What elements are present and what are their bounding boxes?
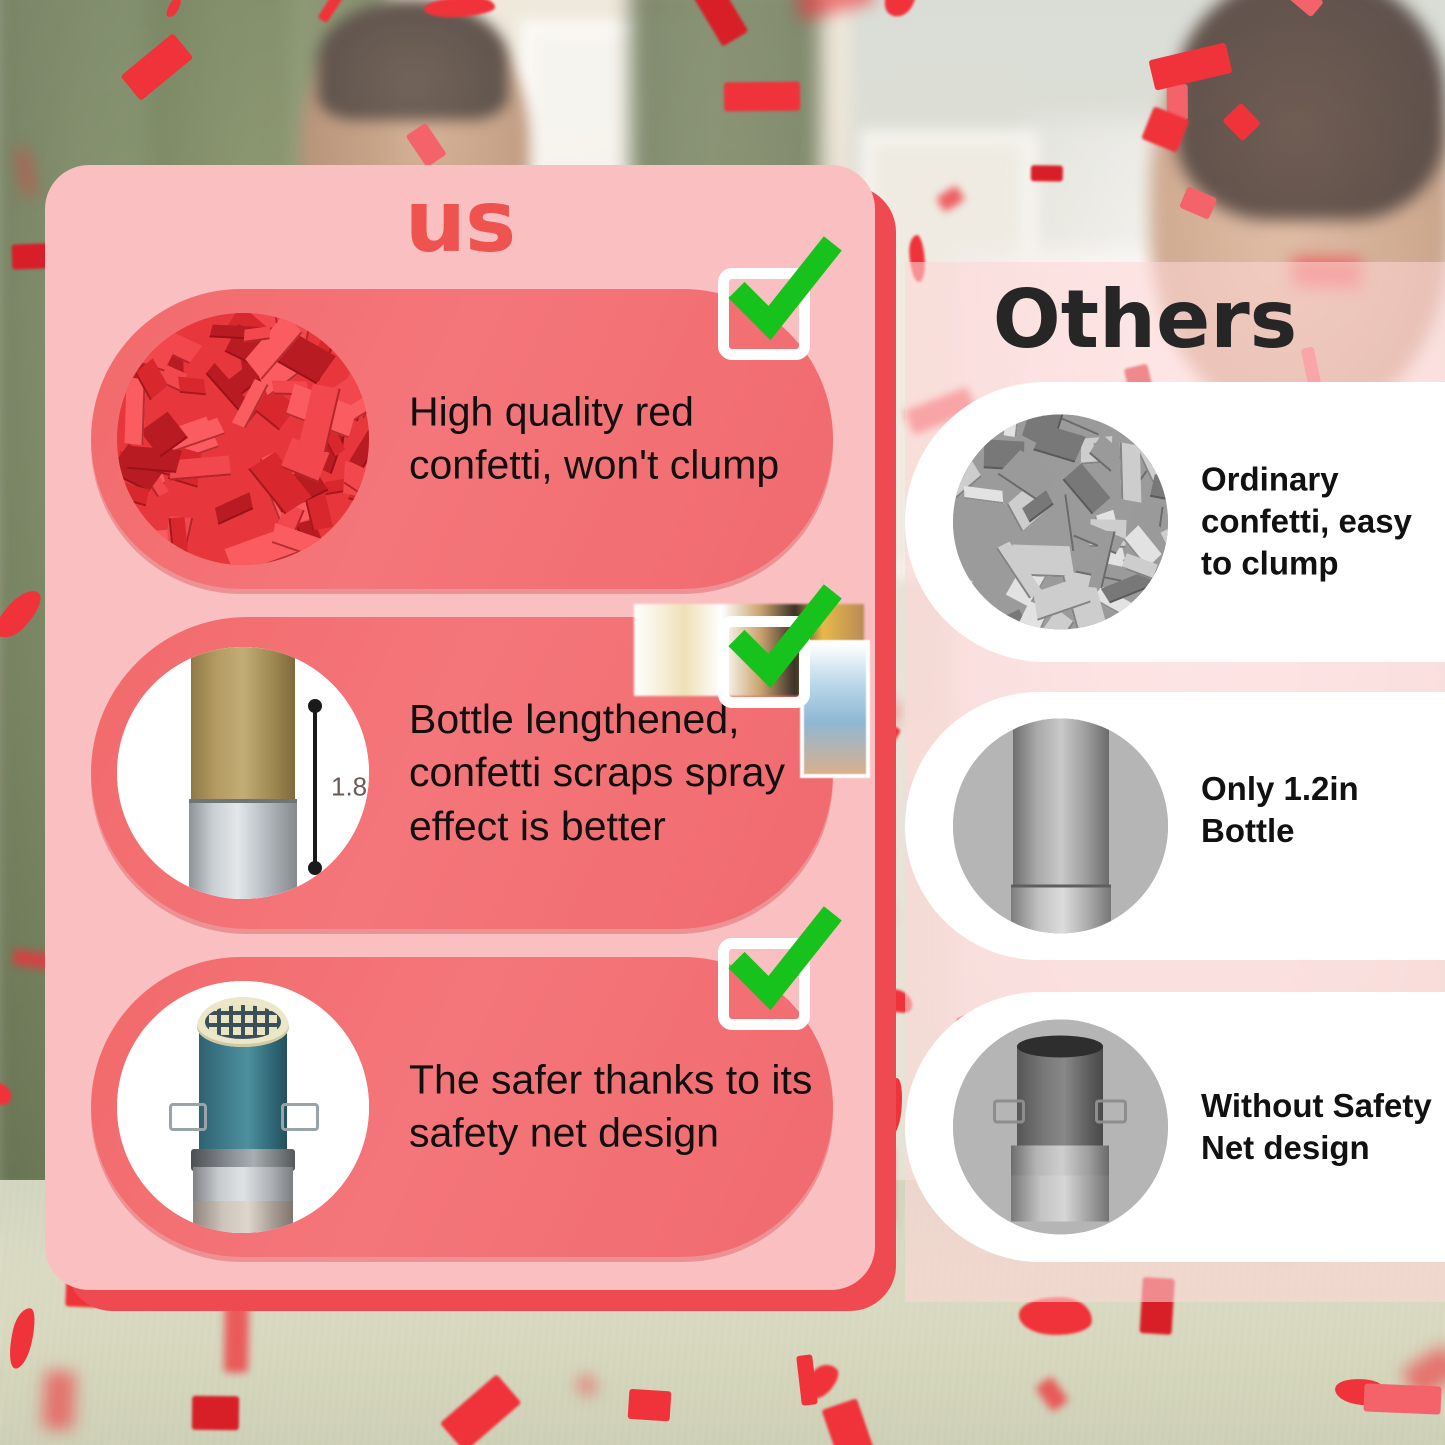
confetti-ribbon (42, 1371, 76, 1430)
measurement-label: 1.8in (331, 772, 369, 803)
others-feature-text: Ordinary confetti, easy to clump (1201, 459, 1441, 586)
gray-short-bottle-photo (953, 719, 1168, 934)
kraft-bottle-photo: 1.8in (117, 647, 369, 899)
confetti-ribbon (191, 1396, 238, 1431)
gray-cannon-no-net-photo (953, 1020, 1168, 1235)
confetti-ribbon (1363, 1384, 1441, 1415)
check-icon (718, 616, 810, 708)
gray-confetti-pile-photo (953, 415, 1168, 630)
us-feature-text: High quality red confetti, won't clump (409, 386, 829, 493)
red-confetti-pile-photo (117, 313, 369, 565)
confetti-ribbon (628, 1389, 671, 1422)
others-feature-row[interactable]: Without Safety Net design (905, 992, 1445, 1262)
others-feature-text: Only 1.2in Bottle (1201, 768, 1441, 852)
others-panel-title: Others (905, 280, 1385, 360)
others-feature-text: Without Safety Net design (1201, 1085, 1441, 1169)
us-feature-text: The safer thanks to its safety net desig… (409, 1054, 829, 1161)
confetti-ribbon (1031, 165, 1063, 182)
check-icon (718, 938, 810, 1030)
confetti-ribbon (723, 81, 799, 111)
others-feature-row[interactable]: Ordinary confetti, easy to clump (905, 382, 1445, 662)
teal-cannon-safety-net-photo (117, 981, 369, 1233)
others-feature-row[interactable]: 1.2in Only 1.2in Bottle (905, 692, 1445, 960)
infographic-canvas: us High quality red confetti, won't clum… (0, 0, 1445, 1445)
us-feature-text: Bottle lengthened, confetti scraps spray… (409, 693, 829, 853)
check-icon (718, 268, 810, 360)
